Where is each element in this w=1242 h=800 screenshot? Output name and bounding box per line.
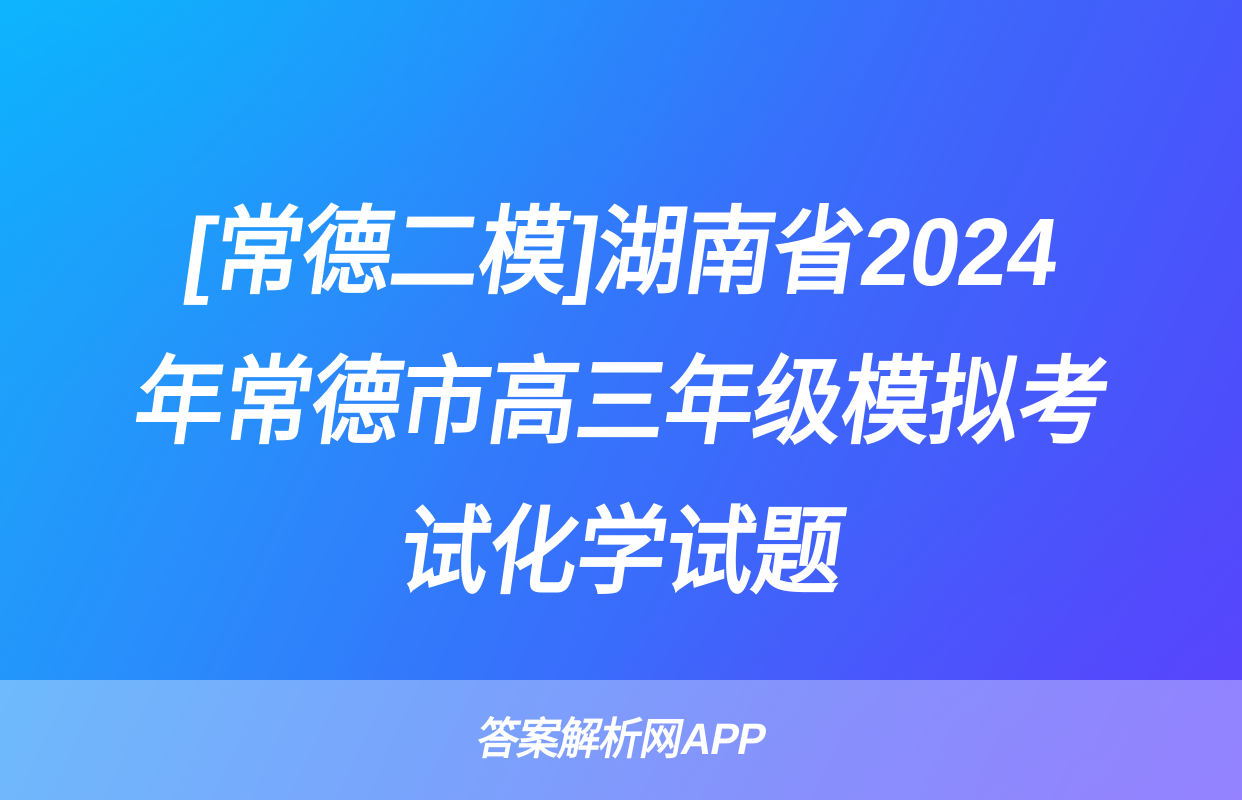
title-block: [常德二模]湖南省2024 年常德市高三年级模拟考 试化学试题 xyxy=(0,178,1242,628)
watermark: 答案解析网APP xyxy=(0,680,1242,800)
title-line-2-text: 年常德市高三年级模拟考 xyxy=(125,328,1118,478)
watermark-text: 答案解析网APP xyxy=(473,718,769,762)
cover-card: [常德二模]湖南省2024 年常德市高三年级模拟考 试化学试题 答案解析网APP xyxy=(0,0,1242,800)
title-line-2: 年常德市高三年级模拟考 xyxy=(13,328,1228,478)
footer-band: 答案解析网APP xyxy=(0,680,1242,800)
title-line-1: [常德二模]湖南省2024 xyxy=(13,178,1228,328)
title-line-3: 试化学试题 xyxy=(13,478,1228,628)
title-line-1-text: [常德二模]湖南省2024 xyxy=(175,178,1067,328)
title-line-3-text: 试化学试题 xyxy=(390,478,853,628)
